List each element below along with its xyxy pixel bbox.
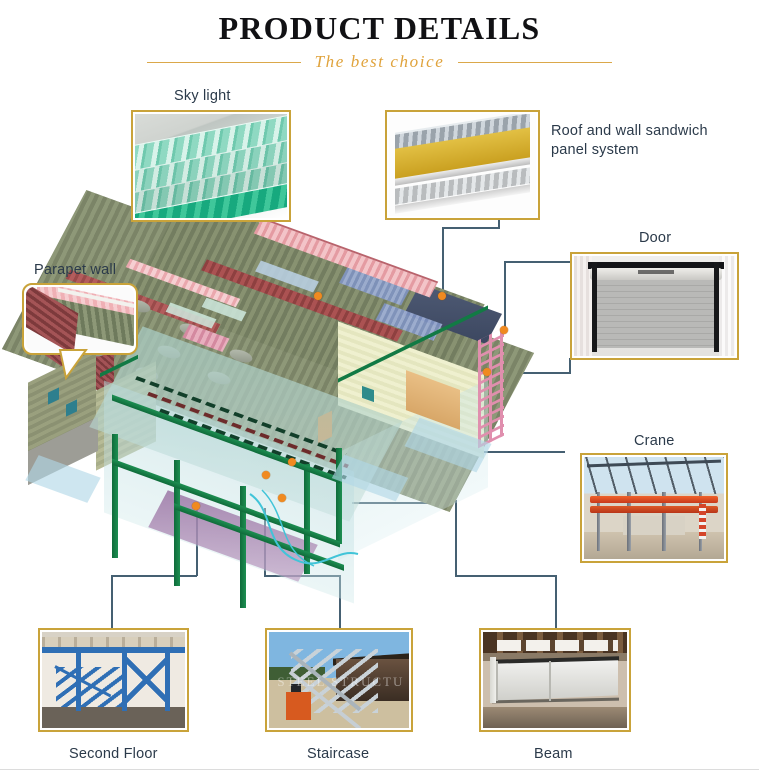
- photo-sandwich-panel: [389, 114, 536, 216]
- product-details-infographic: PRODUCT DETAILS The best choice: [0, 0, 759, 770]
- caption-beam: Beam: [534, 746, 573, 762]
- art-steel-beam: [483, 632, 627, 728]
- marker-door: [483, 368, 491, 376]
- leader-sandwich-v2: [498, 220, 500, 228]
- marker-wall: [500, 326, 508, 334]
- marker-skylight: [314, 292, 322, 300]
- card-sandwich-panel[interactable]: [385, 110, 540, 220]
- card-beam[interactable]: [479, 628, 631, 732]
- caption-door: Door: [639, 230, 671, 246]
- art-overhead-crane: [584, 457, 724, 559]
- marker-second-floor: [192, 502, 200, 510]
- card-door[interactable]: [570, 252, 739, 360]
- services-lines: [244, 488, 364, 588]
- marker-staircase: [278, 494, 286, 502]
- photo-crane: [584, 457, 724, 559]
- caption-sky-light: Sky light: [174, 88, 231, 104]
- leader-sandwich-h: [442, 227, 500, 229]
- art-parapet-wall: [26, 287, 134, 351]
- steel-column-2: [174, 460, 180, 586]
- rule-left: [147, 62, 301, 63]
- art-sandwich-panel: [389, 114, 536, 216]
- caption-second-floor: Second Floor: [69, 746, 158, 762]
- card-second-floor[interactable]: [38, 628, 189, 732]
- stair-tower-scaffold: [478, 328, 504, 449]
- photo-beam: [483, 632, 627, 728]
- caption-crane: Crane: [634, 433, 675, 449]
- steel-column-1: [112, 434, 118, 558]
- page-subtitle: The best choice: [315, 52, 445, 72]
- rule-right: [458, 62, 612, 63]
- photo-staircase: STEEL STRUCTURE: [269, 632, 409, 728]
- photo-sky-light: [135, 114, 287, 218]
- photo-parapet-wall: [26, 287, 134, 351]
- photo-door: [574, 256, 735, 356]
- card-parapet-wall[interactable]: [22, 283, 138, 355]
- caption-sandwich-line1: Roof and wall sandwich: [551, 123, 708, 139]
- leader-door-v: [569, 358, 571, 373]
- photo-watermark: STEEL STRUCTURE: [277, 674, 403, 690]
- caption-sandwich-panel: Roof and wall sandwich panel system: [551, 122, 721, 160]
- art-staircase: STEEL STRUCTURE: [269, 632, 409, 728]
- photo-second-floor: [42, 632, 185, 728]
- marker-sandwich: [438, 292, 446, 300]
- marker-crane-1: [288, 458, 296, 466]
- parapet-callout-tail: [56, 348, 102, 382]
- header: PRODUCT DETAILS The best choice: [0, 0, 759, 84]
- card-staircase[interactable]: STEEL STRUCTURE: [265, 628, 413, 732]
- card-crane[interactable]: [580, 453, 728, 563]
- card-sky-light[interactable]: [131, 110, 291, 222]
- art-mezzanine: [42, 632, 185, 728]
- page-title: PRODUCT DETAILS: [0, 10, 759, 47]
- caption-sandwich-line2: panel system: [551, 142, 639, 158]
- subtitle-row: The best choice: [0, 50, 759, 74]
- art-skylight-panels: [135, 114, 287, 218]
- marker-crane-2: [262, 471, 270, 479]
- art-roller-door: [574, 256, 735, 356]
- caption-parapet-wall: Parapet wall: [34, 262, 116, 278]
- caption-staircase: Staircase: [307, 746, 369, 762]
